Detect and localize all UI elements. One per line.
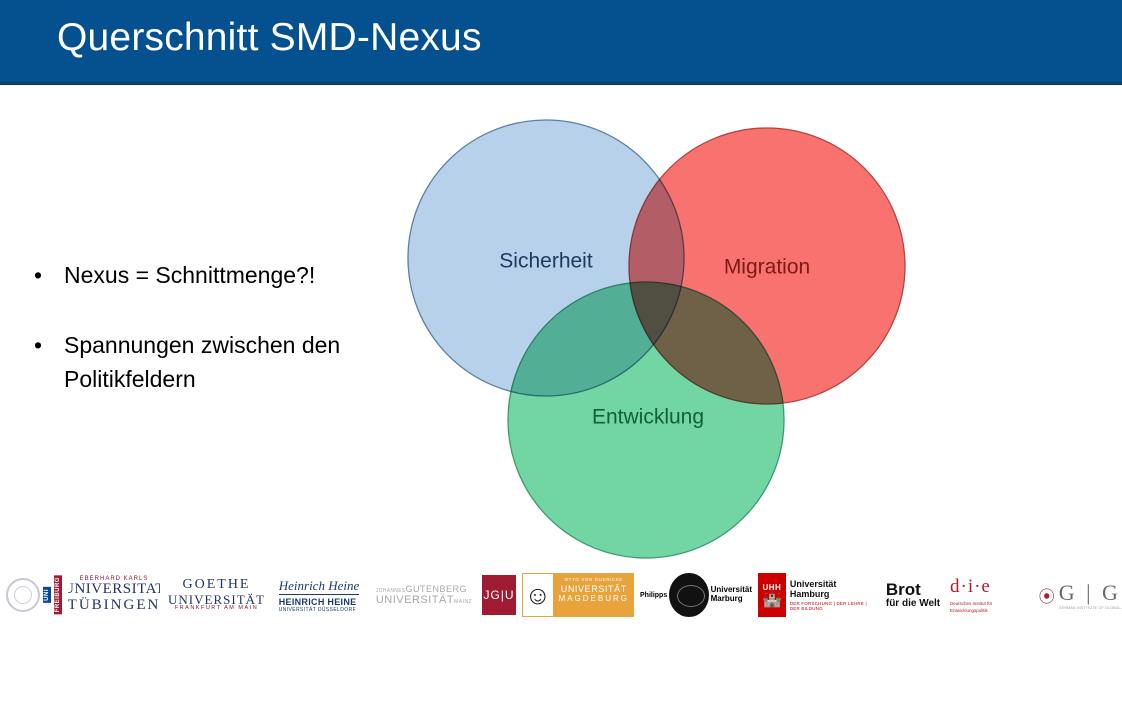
goethe-line1: GOETHE [168,578,265,593]
partner-logo-strip: UNI FREIBURG EBERHARD KARLS UNIVERSITAT … [0,566,1122,624]
magdeburg-line2: UNIVERSITÄT [559,584,629,594]
hamburg-gate-icon: 🏰 [762,592,782,608]
logo-johannes-gutenberg-universitaet-mainz: JOHANNESGUTENBERG UNIVERSITÄTMAINZ [372,571,476,619]
freiburg-label-uni: UNI [43,587,51,603]
guericke-portrait-icon: ☺ [522,573,554,617]
brot-line2: für die Welt [886,598,940,609]
goethe-line2: UNIVERSITÄT [168,593,265,607]
mainz-line1: GUTENBERG [405,584,467,594]
logo-giga: ⦿ G | G A GERMAN INSTITUTE OF GLOBAL AND… [1034,571,1122,619]
venn-label-migration: Migration [724,256,810,279]
giga-line2: GERMAN INSTITUTE OF GLOBAL AND AREA STUD… [1059,606,1122,610]
mainz-small2: MAINZ [454,599,472,605]
list-item: • Nexus = Schnittmenge?! [34,258,384,292]
logo-jgu-mark: JG|U [482,575,516,615]
bullet-text: Spannungen zwischen den Politikfeldern [64,328,384,396]
logo-brot-fuer-die-welt: Brot für die Welt [882,571,944,619]
page-title: Querschnitt SMD-Nexus [57,14,482,62]
hamburg-line2: DER FORSCHUNG | DER LEHRE | DER BILDUNG [790,601,876,611]
bullet-list: • Nexus = Schnittmenge?! • Spannungen zw… [34,258,384,432]
hamburg-crest-icon: UHH 🏰 [758,573,786,617]
logo-universitaet-freiburg: UNI FREIBURG [6,571,62,619]
bullet-text: Nexus = Schnittmenge?! [64,258,384,292]
marburg-line3: Marburg [711,595,752,604]
tuebingen-line3: TÜBINGEN [68,598,160,614]
bullet-marker-icon: • [34,328,64,362]
goethe-line3: FRANKFURT AM MAIN [168,606,265,612]
brot-line1: Brot [886,581,940,598]
logo-universitaet-tuebingen: EBERHARD KARLS UNIVERSITAT TÜBINGEN [68,571,160,619]
tuebingen-line2: UNIVERSITAT [68,582,160,598]
hhu-line1: HEINRICH HEINE [279,597,360,607]
venn-label-entwicklung: Entwicklung [592,406,704,429]
logo-philipps-universitaet-marburg: Philipps Universität Marburg [640,571,752,619]
hhu-line2: UNIVERSITÄT DÜSSELDORF [279,607,360,613]
logo-goethe-universitaet-frankfurt: GOETHE UNIVERSITÄT FRANKFURT AM MAIN [166,571,266,619]
logo-heinrich-heine-universitaet-duesseldorf: Heinrich Heine HEINRICH HEINE UNIVERSITÄ… [272,571,366,619]
freiburg-label-freiburg: FREIBURG [54,575,62,614]
marburg-line1: Philipps [640,592,667,599]
mainz-line2: UNIVERSITÄT [376,594,454,606]
venn-label-sicherheit: Sicherheit [499,250,593,273]
giga-swoosh-icon: ⦿ [1039,583,1055,607]
logo-otto-von-guericke-universitaet-magdeburg: ☺ OTTO VON GUERICKE UNIVERSITÄT MAGDEBUR… [522,571,634,619]
logo-deutsches-institut-fuer-entwicklungspolitik: d·i·e Deutsches Institut für Entwicklung… [950,571,1028,619]
freiburg-seal-icon [6,578,40,612]
marburg-globe-icon [669,573,708,617]
bullet-marker-icon: • [34,258,64,292]
logo-universitaet-hamburg: UHH 🏰 Universität Hamburg DER FORSCHUNG … [758,571,876,619]
hamburg-line1: Universität Hamburg [790,579,876,599]
giga-line1: G | G A [1059,580,1122,606]
die-line2: Deutsches Institut für Entwicklungspolit… [950,601,1028,615]
title-banner: Querschnitt SMD-Nexus [0,0,1122,85]
magdeburg-line3: MAGDEBURG [559,594,629,603]
die-line1: d·i·e [950,576,1028,598]
hhu-signature: Heinrich Heine [279,578,360,595]
list-item: • Spannungen zwischen den Politikfeldern [34,328,384,396]
magdeburg-line1: OTTO VON GUERICKE [559,577,629,582]
venn-diagram: Sicherheit Migration Entwicklung [395,105,925,575]
